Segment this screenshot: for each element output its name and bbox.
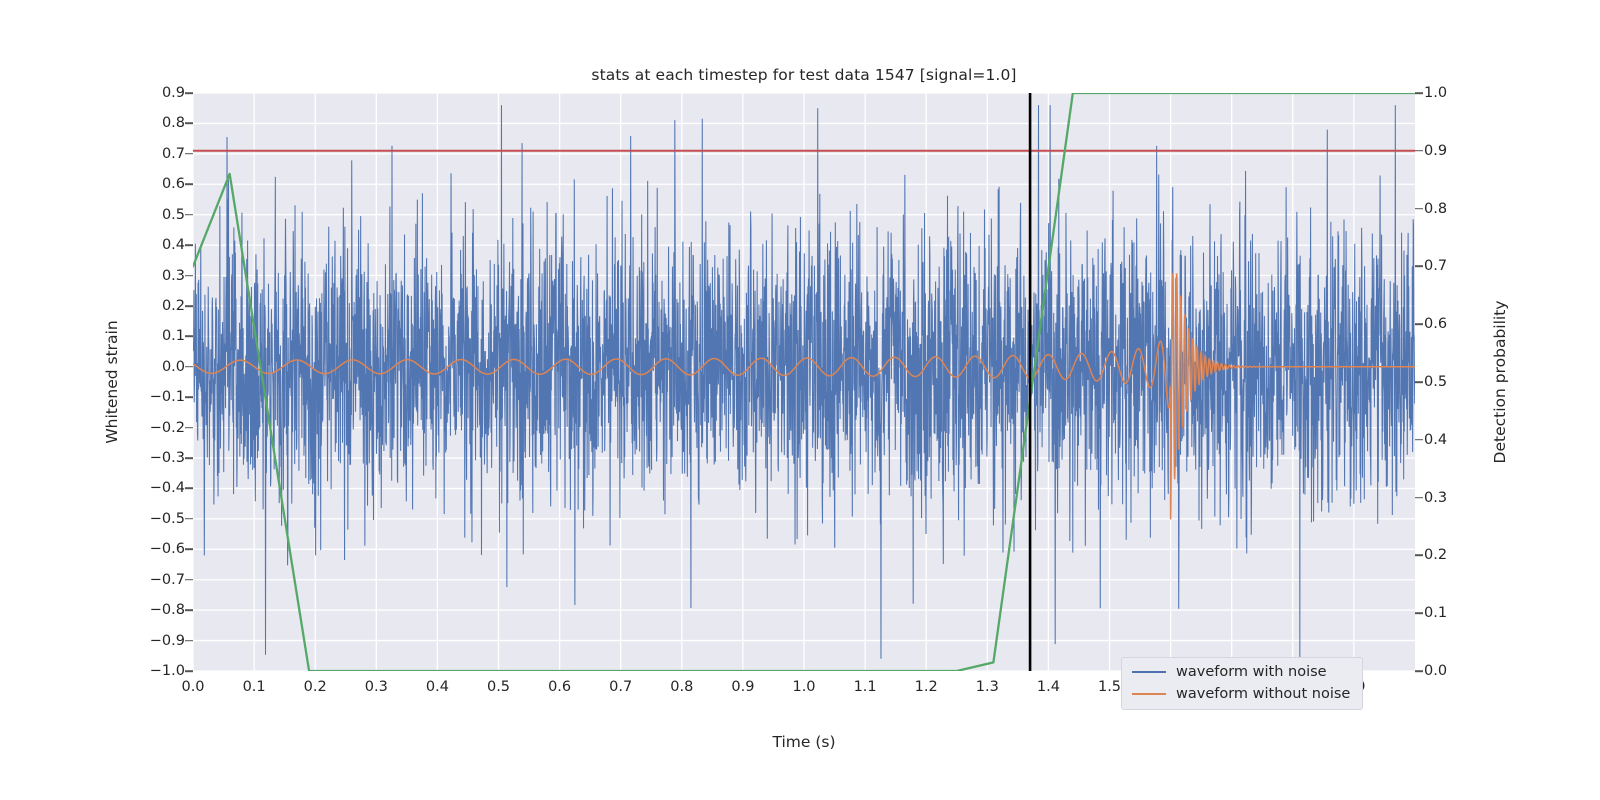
y-tick-label-right: 1.0: [1424, 85, 1447, 101]
y-tick-label-right: 0.9: [1424, 143, 1447, 159]
y-tick-mark-right: [1415, 150, 1423, 152]
y-tick-mark-left: [185, 366, 193, 368]
legend-entry[interactable]: waveform with noise: [1132, 664, 1350, 680]
y-tick-label-right: 0.3: [1424, 490, 1447, 506]
y-tick-mark-left: [185, 123, 193, 125]
x-tick-label: 0.0: [181, 679, 204, 695]
y-tick-label-left: 0.7: [162, 146, 185, 162]
y-tick-mark-right: [1415, 555, 1423, 557]
y-tick-label-left: −0.6: [150, 541, 185, 557]
y-tick-mark-left: [185, 518, 193, 520]
legend-entry[interactable]: waveform without noise: [1132, 686, 1350, 702]
y-tick-mark-left: [185, 336, 193, 338]
x-tick-label: 0.6: [548, 679, 571, 695]
y-tick-mark-left: [185, 579, 193, 581]
y-tick-label-right: 0.8: [1424, 201, 1447, 217]
y-tick-label-right: 0.1: [1424, 605, 1447, 621]
x-tick-label: 0.9: [731, 679, 754, 695]
y-tick-label-left: −0.4: [150, 480, 185, 496]
y-tick-label-left: 0.1: [162, 328, 185, 344]
x-tick-label: 0.7: [609, 679, 632, 695]
y-tick-label-left: −0.9: [150, 633, 185, 649]
y-tick-mark-left: [185, 427, 193, 429]
x-axis-label: Time (s): [772, 733, 835, 751]
y-tick-mark-right: [1415, 266, 1423, 268]
legend-label: waveform without noise: [1176, 686, 1350, 702]
gravitational-wave-detection-figure: stats at each timestep for test data 154…: [0, 0, 1600, 800]
y-tick-mark-left: [185, 488, 193, 490]
legend-swatch-icon: [1132, 693, 1166, 695]
legend: waveform with noisewaveform without nois…: [1121, 657, 1363, 710]
y-tick-label-left: −0.2: [150, 420, 185, 436]
y-tick-mark-left: [185, 609, 193, 611]
y-axis-label-right: Detection probability: [1491, 301, 1509, 464]
y-tick-mark-right: [1415, 612, 1423, 614]
plot-area: [193, 93, 1415, 671]
chart-title: stats at each timestep for test data 154…: [193, 66, 1415, 84]
y-tick-label-left: 0.9: [162, 85, 185, 101]
y-tick-label-left: 0.2: [162, 298, 185, 314]
y-tick-label-right: 0.0: [1424, 663, 1447, 679]
y-tick-label-left: 0.4: [162, 237, 185, 253]
y-tick-label-right: 0.7: [1424, 258, 1447, 274]
y-tick-mark-right: [1415, 208, 1423, 210]
y-tick-label-left: −0.8: [150, 602, 185, 618]
x-tick-label: 1.2: [915, 679, 938, 695]
y-tick-mark-right: [1415, 92, 1423, 94]
y-tick-label-left: −0.5: [150, 511, 185, 527]
y-tick-mark-left: [185, 457, 193, 459]
x-tick-label: 0.8: [670, 679, 693, 695]
y-tick-mark-left: [185, 670, 193, 672]
y-tick-label-left: 0.5: [162, 207, 185, 223]
legend-swatch-icon: [1132, 671, 1166, 673]
y-tick-label-left: −0.7: [150, 572, 185, 588]
y-axis-label-left: Whitened strain: [103, 320, 121, 443]
y-tick-label-left: 0.3: [162, 268, 185, 284]
y-tick-mark-left: [185, 153, 193, 155]
y-tick-mark-left: [185, 305, 193, 307]
y-tick-mark-left: [185, 92, 193, 94]
y-tick-mark-left: [185, 244, 193, 246]
y-tick-mark-right: [1415, 670, 1423, 672]
y-tick-label-right: 0.2: [1424, 547, 1447, 563]
x-tick-label: 1.0: [792, 679, 815, 695]
y-tick-mark-left: [185, 183, 193, 185]
x-tick-label: 0.2: [304, 679, 327, 695]
y-tick-mark-left: [185, 396, 193, 398]
y-tick-label-left: −0.1: [150, 389, 185, 405]
x-tick-label: 1.3: [976, 679, 999, 695]
y-tick-mark-left: [185, 549, 193, 551]
y-tick-label-left: −0.3: [150, 450, 185, 466]
y-tick-label-left: 0.8: [162, 115, 185, 131]
y-tick-label-left: 0.6: [162, 176, 185, 192]
y-tick-mark-right: [1415, 439, 1423, 441]
y-tick-label-left: 0.0: [162, 359, 185, 375]
y-tick-mark-left: [185, 640, 193, 642]
y-tick-mark-right: [1415, 381, 1423, 383]
y-tick-label-right: 0.6: [1424, 316, 1447, 332]
y-tick-mark-right: [1415, 497, 1423, 499]
y-tick-label-right: 0.4: [1424, 432, 1447, 448]
x-tick-label: 1.1: [854, 679, 877, 695]
y-tick-mark-left: [185, 214, 193, 216]
y-tick-mark-right: [1415, 323, 1423, 325]
y-tick-mark-left: [185, 275, 193, 277]
x-tick-label: 1.5: [1098, 679, 1121, 695]
x-tick-label: 0.5: [487, 679, 510, 695]
y-tick-label-left: −1.0: [150, 663, 185, 679]
x-tick-label: 0.4: [426, 679, 449, 695]
y-tick-label-right: 0.5: [1424, 374, 1447, 390]
x-tick-label: 1.4: [1037, 679, 1060, 695]
legend-label: waveform with noise: [1176, 664, 1327, 680]
x-tick-label: 0.1: [243, 679, 266, 695]
x-tick-label: 0.3: [365, 679, 388, 695]
